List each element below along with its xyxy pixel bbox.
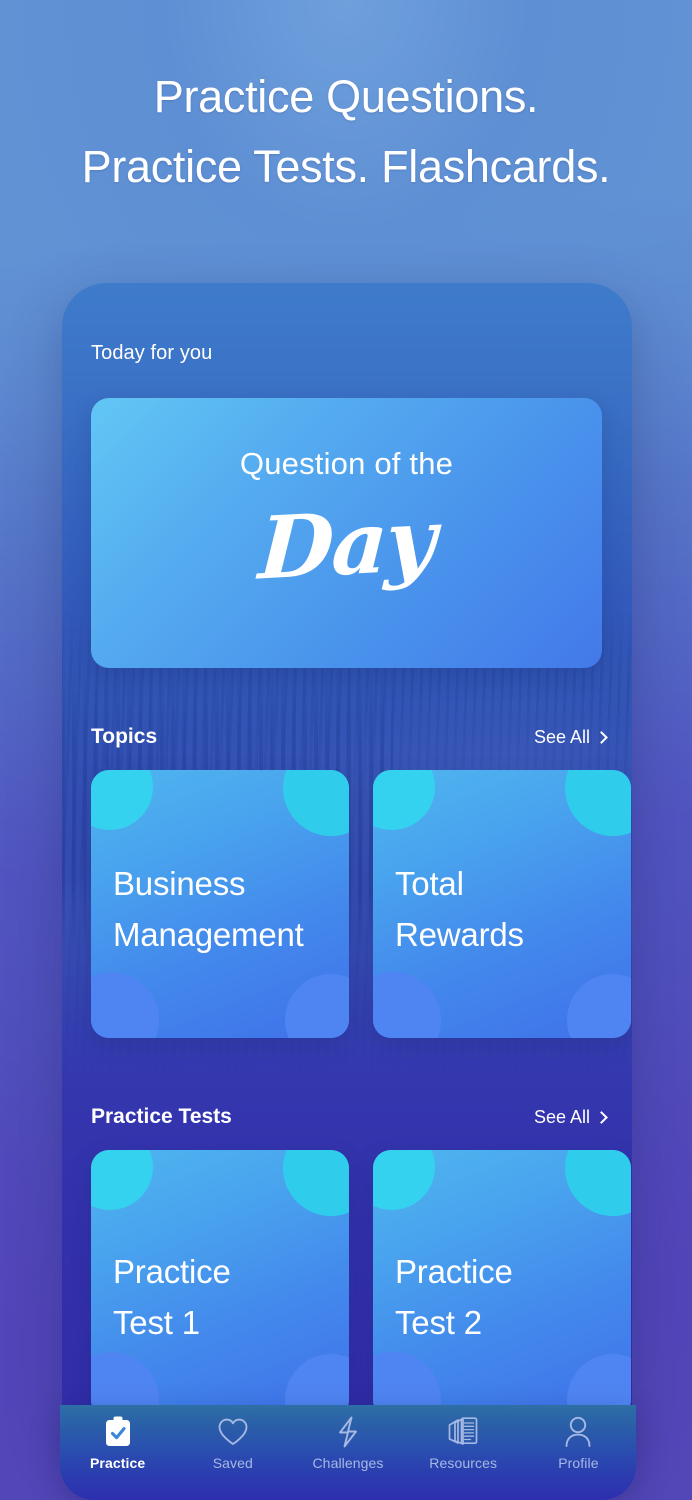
topic-card-label: Total Rewards <box>395 858 621 960</box>
clipboard-check-icon <box>104 1414 132 1450</box>
corner-blob-top-left <box>91 1150 153 1210</box>
page-headline: Practice Questions. Practice Tests. Flas… <box>0 62 692 202</box>
corner-blob-bottom-right <box>567 974 631 1038</box>
tab-profile-label: Profile <box>558 1455 598 1471</box>
tab-resources[interactable]: Resources <box>406 1414 521 1471</box>
tab-challenges-label: Challenges <box>312 1455 383 1471</box>
practice-test-card-2[interactable]: Practice Test 2 <box>373 1150 631 1418</box>
corner-blob-bottom-left <box>91 972 159 1038</box>
question-of-the-day-card[interactable]: Question of the Day <box>91 398 602 668</box>
today-for-you-label: Today for you <box>91 342 212 365</box>
phone-mockup: Today for you Question of the Day Topics… <box>62 283 632 1445</box>
topic-card-label: Business Management <box>113 858 339 960</box>
qotd-line-one: Question of the <box>91 446 602 482</box>
corner-blob-top-right <box>565 1150 631 1216</box>
tab-profile[interactable]: Profile <box>521 1414 636 1471</box>
corner-blob-top-left <box>373 770 435 830</box>
tab-saved-label: Saved <box>213 1455 253 1471</box>
topics-see-all-label: See All <box>534 727 590 748</box>
corner-blob-top-right <box>283 770 349 836</box>
tab-challenges[interactable]: Challenges <box>290 1414 405 1471</box>
practice-test-card-label: Practice Test 2 <box>395 1246 621 1348</box>
app-screen: Today for you Question of the Day Topics… <box>62 283 632 1445</box>
topics-card-row[interactable]: Business Management Total Rewards <box>91 770 632 1038</box>
documents-stack-icon <box>446 1414 480 1450</box>
topic-card-total-rewards[interactable]: Total Rewards <box>373 770 631 1038</box>
topics-section-header: Topics See All <box>91 725 602 753</box>
topic-card-business-management[interactable]: Business Management <box>91 770 349 1038</box>
practice-tests-see-all-link[interactable]: See All <box>534 1107 606 1128</box>
corner-blob-top-right <box>283 1150 349 1216</box>
corner-blob-bottom-right <box>285 974 349 1038</box>
topics-see-all-link[interactable]: See All <box>534 727 606 748</box>
tab-practice[interactable]: Practice <box>60 1414 175 1471</box>
practice-tests-section-header: Practice Tests See All <box>91 1105 602 1133</box>
practice-test-card-label: Practice Test 1 <box>113 1246 339 1348</box>
heart-icon <box>217 1414 249 1450</box>
bottom-tab-bar: Practice Saved Challenges <box>60 1405 636 1500</box>
chevron-right-icon <box>595 731 608 744</box>
chevron-right-icon <box>595 1111 608 1124</box>
person-icon <box>563 1414 593 1450</box>
lightning-bolt-icon <box>336 1414 360 1450</box>
tab-saved[interactable]: Saved <box>175 1414 290 1471</box>
tab-practice-label: Practice <box>90 1455 145 1471</box>
qotd-line-two: Day <box>91 481 602 609</box>
practice-tests-see-all-label: See All <box>534 1107 590 1128</box>
practice-tests-card-row[interactable]: Practice Test 1 Practice Test 2 <box>91 1150 632 1418</box>
tab-resources-label: Resources <box>429 1455 497 1471</box>
corner-blob-top-left <box>373 1150 435 1210</box>
practice-tests-title: Practice Tests <box>91 1105 232 1129</box>
corner-blob-bottom-left <box>373 972 441 1038</box>
corner-blob-top-left <box>91 770 153 830</box>
corner-blob-top-right <box>565 770 631 836</box>
practice-test-card-1[interactable]: Practice Test 1 <box>91 1150 349 1418</box>
topics-title: Topics <box>91 725 157 749</box>
